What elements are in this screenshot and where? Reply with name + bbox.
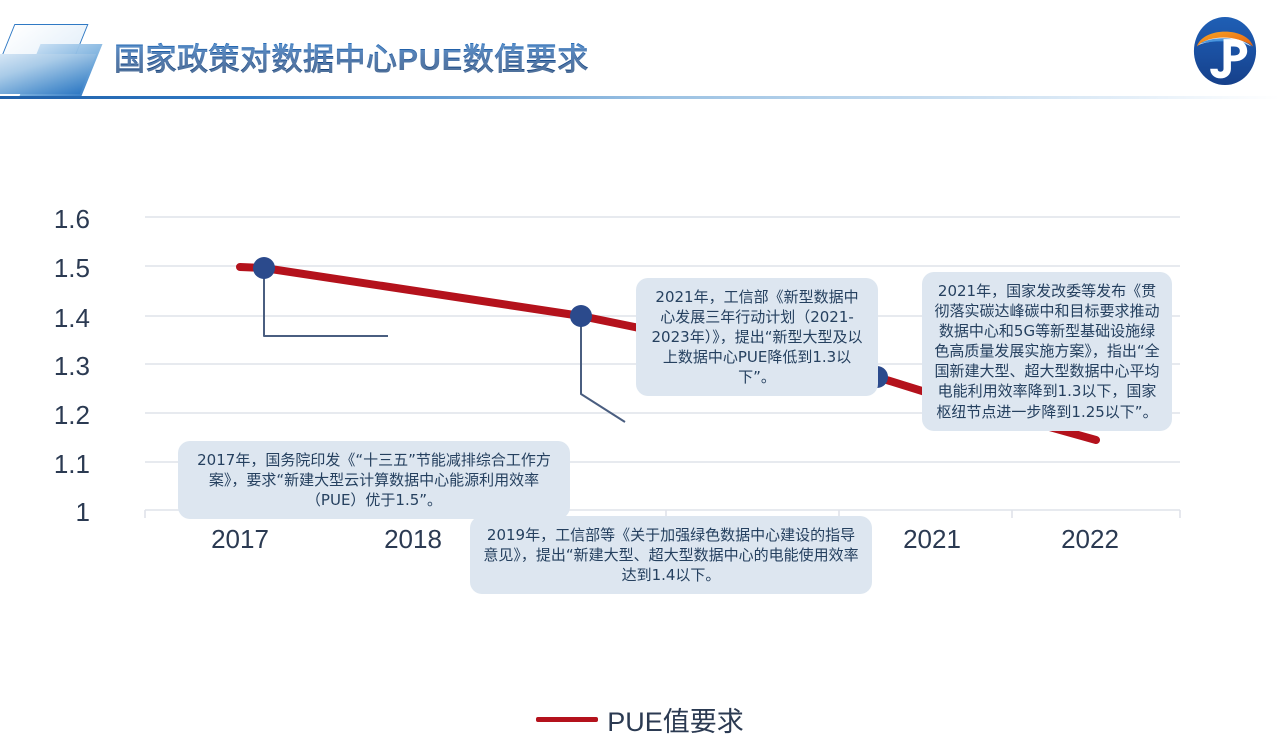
slide-canvas: 国家政策对数据中心PUE数值要求 — [0, 0, 1280, 720]
y-axis-tick: 1.1 — [20, 449, 90, 480]
company-logo-icon — [1188, 14, 1262, 88]
annotation-callout-2021-ndrc: 2021年，国家发改委等发布《贯彻落实碳达峰碳中和目标要求推动数据中心和5G等新… — [922, 272, 1172, 431]
y-axis-tick: 1.4 — [20, 303, 90, 334]
x-axis-tick: 2022 — [1030, 524, 1150, 555]
slide-header: 国家政策对数据中心PUE数值要求 — [0, 0, 1280, 104]
y-axis-tick: 1 — [20, 497, 90, 528]
x-axis-tick: 2017 — [180, 524, 300, 555]
marker-2019 — [570, 305, 592, 327]
leader-2019 — [581, 314, 625, 422]
y-axis-tick: 1.6 — [20, 204, 90, 235]
x-axis-tick: 2021 — [872, 524, 992, 555]
x-axis-tick: 2018 — [353, 524, 473, 555]
annotation-callout-2021-miit: 2021年，工信部《新型数据中心发展三年行动计划（2021-2023年）》，提出… — [636, 278, 878, 396]
page-title: 国家政策对数据中心PUE数值要求 — [114, 34, 589, 79]
annotation-callout-2019: 2019年，工信部等《关于加强绿色数据中心建设的指导意见》，提出“新建大型、超大… — [470, 516, 872, 594]
header-divider — [0, 96, 1280, 99]
y-axis-tick: 1.3 — [20, 351, 90, 382]
y-axis-tick: 1.2 — [20, 400, 90, 431]
pue-line-chart: 1.6 1.5 1.4 1.3 1.2 1.1 1 2017 2018 2019… — [0, 104, 1280, 720]
annotation-callout-2017: 2017年，国务院印发《“十三五”节能减排综合工作方案》，要求“新建大型云计算数… — [178, 441, 570, 519]
marker-2017 — [253, 257, 275, 279]
y-axis-tick: 1.5 — [20, 253, 90, 284]
header-decoration-lower — [0, 54, 96, 94]
